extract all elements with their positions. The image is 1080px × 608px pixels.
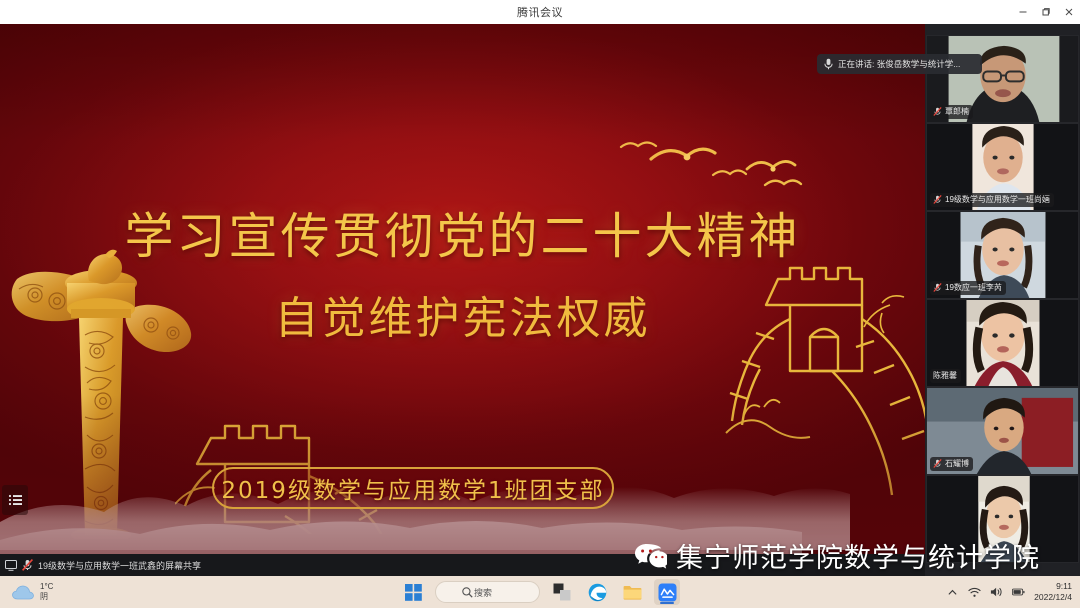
screen-share-status-bar: 19级数学与应用数学一班武鑫的屏幕共享 — [0, 554, 925, 576]
window-controls — [1011, 0, 1080, 24]
slide-title-line1: 学习宣传贯彻党的二十大精神 — [0, 212, 925, 261]
participant-tile[interactable]: 石耀博 — [926, 387, 1079, 475]
window-titlebar: 腾讯会议 — [0, 0, 1080, 24]
mic-muted-icon — [22, 559, 33, 571]
volume-button[interactable] — [990, 586, 1003, 599]
screen-share-status-text: 19级数学与应用数学一班武鑫的屏幕共享 — [38, 559, 201, 572]
participant-filmstrip[interactable]: 覃郎楠 — [925, 24, 1080, 576]
participant-name-badge — [930, 556, 937, 559]
tencent-meeting-button[interactable] — [654, 579, 680, 605]
active-speaker-text: 正在讲话: 张俊岳数学与统计学... — [838, 58, 960, 70]
close-button[interactable] — [1057, 0, 1080, 24]
screen-root: 腾讯会议 — [0, 0, 1080, 608]
list-menu-icon[interactable] — [2, 485, 28, 515]
active-speaker-banner: 正在讲话: 张俊岳数学与统计学... — [817, 54, 982, 74]
edge-icon — [588, 583, 607, 602]
participant-name: 19数应一班李芮 — [945, 282, 1002, 293]
window-title: 腾讯会议 — [517, 4, 563, 20]
mic-muted-icon — [933, 459, 942, 468]
system-tray: 9:11 2022/12/4 — [946, 581, 1072, 603]
windows-logo-icon — [405, 584, 422, 601]
participant-name-badge: 石耀博 — [930, 457, 973, 471]
participant-tile[interactable]: 覃郎楠 — [926, 35, 1079, 123]
taskbar-clock[interactable]: 9:11 2022/12/4 — [1034, 581, 1072, 603]
participant-name-badge: 19数应一班李芮 — [930, 281, 1006, 295]
mic-muted-icon — [933, 195, 942, 204]
microphone-icon — [824, 58, 833, 70]
participant-video — [927, 476, 1078, 563]
search-placeholder: 搜索 — [474, 586, 492, 599]
task-view-icon — [553, 583, 571, 601]
battery-button[interactable] — [1012, 586, 1025, 599]
task-view-button[interactable] — [549, 579, 575, 605]
file-explorer-button[interactable] — [619, 579, 645, 605]
participant-name: 石耀博 — [945, 458, 969, 469]
slide-org-badge-label: 2019级数学与应用数学1班团支部 — [221, 471, 604, 505]
participant-name-badge: 陈雅馨 — [930, 369, 961, 383]
clock-time: 9:11 — [1034, 581, 1072, 592]
participant-tile[interactable]: 陈雅馨 — [926, 299, 1079, 387]
slide-title-line2: 自觉维护宪法权威 — [0, 297, 925, 341]
participant-tile[interactable]: 19数应一班李芮 — [926, 211, 1079, 299]
participant-name: 19级数学与应用数学一班尚婳 — [945, 194, 1050, 205]
start-button[interactable] — [400, 579, 426, 605]
minimize-button[interactable] — [1011, 0, 1034, 24]
presentation-slide: 学习宣传贯彻党的二十大精神 自觉维护宪法权威 2019级数学与应用数学1班团支部 — [0, 24, 925, 554]
wifi-icon — [968, 587, 981, 598]
active-app-indicator — [660, 602, 674, 605]
edge-button[interactable] — [584, 579, 610, 605]
search-icon — [462, 587, 473, 598]
meeting-body: 学习宣传贯彻党的二十大精神 自觉维护宪法权威 2019级数学与应用数学1班团支部 — [0, 24, 1080, 576]
participant-name: 陈雅馨 — [933, 370, 957, 381]
show-hidden-icons-button[interactable] — [946, 586, 959, 599]
slide-title-block: 学习宣传贯彻党的二十大精神 自觉维护宪法权威 — [0, 212, 925, 341]
search-box[interactable]: 搜索 — [435, 581, 540, 603]
windows-taskbar: 1°C 阴 搜索 — [0, 576, 1080, 608]
folder-icon — [623, 584, 642, 601]
participant-tile[interactable]: 19级数学与应用数学一班尚婳 — [926, 123, 1079, 211]
clock-date: 2022/12/4 — [1034, 592, 1072, 603]
participant-tile[interactable] — [926, 475, 1079, 563]
taskbar-app-group: 搜索 — [0, 579, 1080, 605]
tencent-meeting-icon — [658, 583, 677, 602]
battery-icon — [1012, 587, 1025, 597]
slide-org-badge: 2019级数学与应用数学1班团支部 — [212, 467, 614, 509]
mic-muted-icon — [933, 107, 942, 116]
shared-screen-region[interactable]: 学习宣传贯彻党的二十大精神 自觉维护宪法权威 2019级数学与应用数学1班团支部 — [0, 24, 925, 554]
monitor-icon — [5, 560, 17, 571]
chevron-up-icon — [948, 588, 957, 597]
speaker-icon — [990, 586, 1003, 598]
network-button[interactable] — [968, 586, 981, 599]
participant-name-badge: 19级数学与应用数学一班尚婳 — [930, 193, 1054, 207]
participant-name-badge: 覃郎楠 — [930, 105, 973, 119]
mic-muted-icon — [933, 283, 942, 292]
participant-name: 覃郎楠 — [945, 106, 969, 117]
maximize-restore-button[interactable] — [1034, 0, 1057, 24]
